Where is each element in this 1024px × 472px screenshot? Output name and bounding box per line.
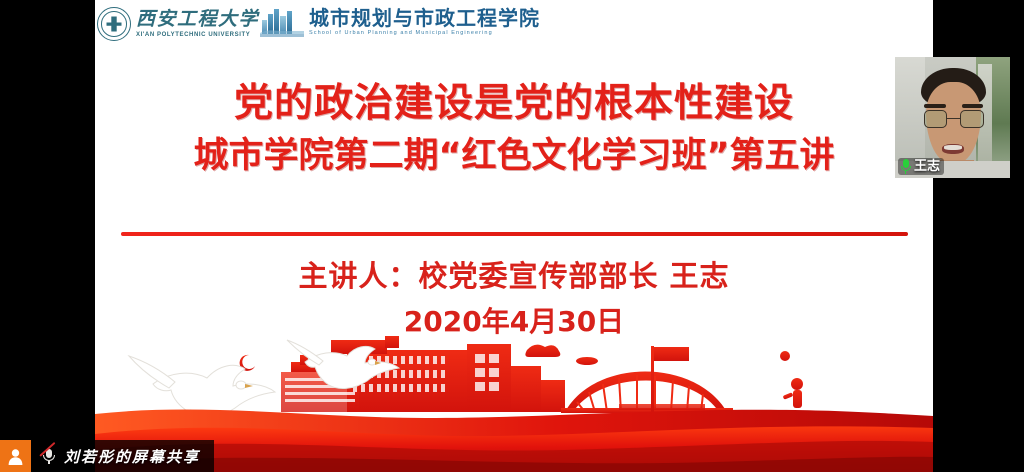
- title-divider: [121, 232, 908, 236]
- slide-title-block: 党的政治建设是党的根本性建设 城市学院第二期“红色文化学习班”第五讲: [95, 82, 933, 179]
- screen-share-label: 刘若彤的屏幕共享: [64, 446, 200, 467]
- participant-avatar[interactable]: [0, 440, 31, 472]
- school-name-cn: 城市规划与市政工程学院: [309, 8, 540, 28]
- school-name-en: School of Urban Planning and Municipal E…: [309, 31, 540, 37]
- shared-slide[interactable]: 西安工程大学 XI'AN POLYTECHNIC UNIVERSITY: [95, 0, 933, 472]
- university-name-en: XI'AN POLYTECHNIC UNIVERSITY: [136, 32, 259, 38]
- participant-avatar-icon: [6, 447, 25, 466]
- participant-video-tile[interactable]: 王志: [895, 57, 1010, 178]
- university-logo: 西安工程大学 XI'AN POLYTECHNIC UNIVERSITY: [97, 7, 259, 41]
- participant-name-label: 王志: [914, 160, 940, 173]
- screen-share-status-bar: 刘若彤的屏幕共享: [0, 440, 214, 472]
- slide-subtitle: 城市学院第二期“红色文化学习班”第五讲: [95, 134, 933, 180]
- microphone-muted-icon[interactable]: [41, 448, 57, 464]
- participant-name-badge: 王志: [898, 158, 944, 175]
- university-seal-icon: [97, 7, 131, 41]
- university-name-cn: 西安工程大学: [136, 10, 259, 29]
- slide-artwork: [95, 322, 933, 472]
- microphone-on-icon: [900, 159, 911, 174]
- screen-share-indicator[interactable]: 刘若彤的屏幕共享: [31, 440, 214, 472]
- school-logo: 城市规划与市政工程学院 School of Urban Planning and…: [260, 7, 540, 37]
- eyeglasses-icon: [922, 110, 985, 127]
- city-buildings-icon: [260, 7, 304, 37]
- slide-main-title: 党的政治建设是党的根本性建设: [95, 82, 933, 126]
- school-logo-text: 城市规划与市政工程学院 School of Urban Planning and…: [309, 8, 540, 37]
- artwork-svg: [95, 322, 933, 472]
- slide-logo-header: 西安工程大学 XI'AN POLYTECHNIC UNIVERSITY: [95, 4, 515, 50]
- meeting-screen-share-view: 西安工程大学 XI'AN POLYTECHNIC UNIVERSITY: [0, 0, 1024, 472]
- speaker-name: 主讲人：校党委宣传部部长 王志: [95, 258, 933, 294]
- red-wave-ribbon-icon: [95, 410, 933, 472]
- university-logo-text: 西安工程大学 XI'AN POLYTECHNIC UNIVERSITY: [136, 10, 259, 38]
